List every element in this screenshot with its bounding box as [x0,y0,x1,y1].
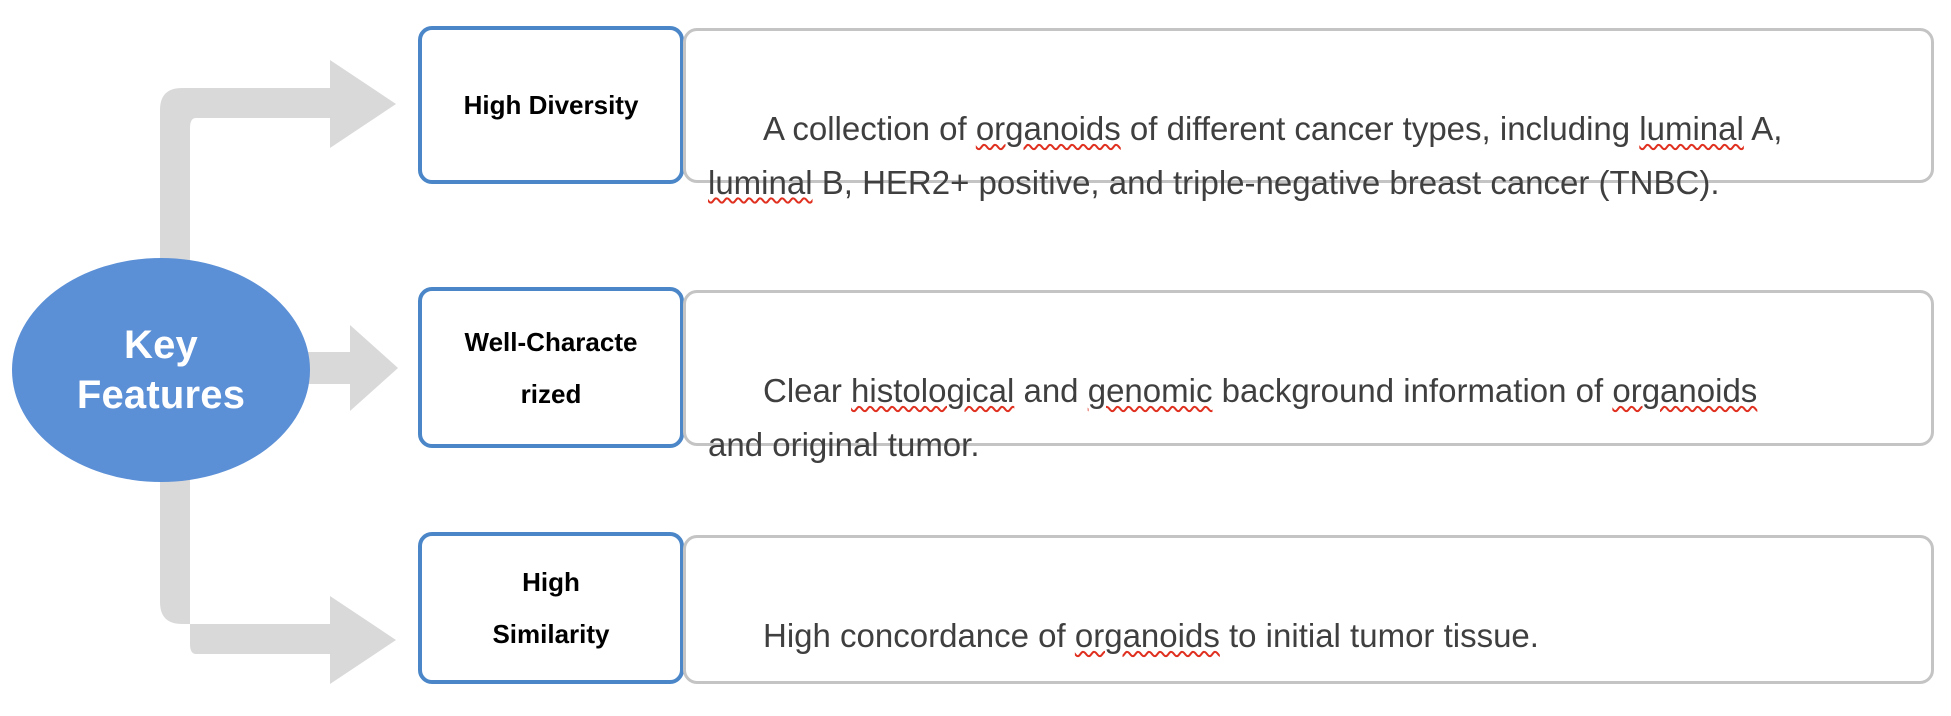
desc-text-high-diversity: A collection of organoids of different c… [686,31,1804,263]
spellcheck-word-organoids: organoids [976,110,1121,147]
label-line2: Similarity [492,608,609,660]
label-box-high-similarity[interactable]: High Similarity [418,532,684,684]
hub-label-line1: Key [77,320,245,370]
desc-text-high-similarity: High concordance of organoids to initial… [686,538,1561,716]
label-box-well-characterized[interactable]: Well-Characte rized [418,287,684,448]
desc-segment: Clear [763,372,851,409]
label-line1: High Diversity [464,90,639,120]
hub-label-line2: Features [77,370,245,420]
spellcheck-word-genomic: genomic [1088,372,1213,409]
arrow-to-well-characterized [308,325,398,411]
desc-box-well-characterized[interactable]: Clear histological and genomic backgroun… [683,290,1934,446]
desc-segment: and [1014,372,1087,409]
spellcheck-word-luminal: luminal [1639,110,1744,147]
label-line1: High [492,556,609,608]
desc-segment: High concordance of [763,617,1075,654]
hub-label: Key Features [77,320,245,420]
desc-box-high-similarity[interactable]: High concordance of organoids to initial… [683,535,1934,684]
spellcheck-word-organoids: organoids [1612,372,1757,409]
label-text-high-similarity: High Similarity [482,556,619,660]
label-text-well-characterized: Well-Characte rized [455,316,648,420]
label-text-high-diversity: High Diversity [454,79,649,131]
label-box-high-diversity[interactable]: High Diversity [418,26,684,184]
desc-box-high-diversity[interactable]: A collection of organoids of different c… [683,28,1934,183]
desc-segment: of different cancer types, including [1121,110,1640,147]
desc-segment: B, HER2+ positive, and triple-negative b… [813,164,1720,201]
key-features-hub[interactable]: Key Features [12,258,310,482]
spellcheck-word-organoids: organoids [1075,617,1220,654]
desc-segment: background information of [1212,372,1612,409]
desc-segment: A collection of [763,110,976,147]
label-line1: Well-Characte [465,316,638,368]
spellcheck-word-histological: histological [851,372,1014,409]
desc-segment: to initial tumor tissue. [1220,617,1539,654]
desc-segment: and original tumor. [708,426,980,463]
label-line2: rized [465,368,638,420]
desc-text-well-characterized: Clear histological and genomic backgroun… [686,293,1779,525]
diagram-canvas: Key Features High Diversity A collection… [0,0,1951,712]
spellcheck-word-luminal-2: luminal [708,164,813,201]
desc-segment: A, [1744,110,1783,147]
